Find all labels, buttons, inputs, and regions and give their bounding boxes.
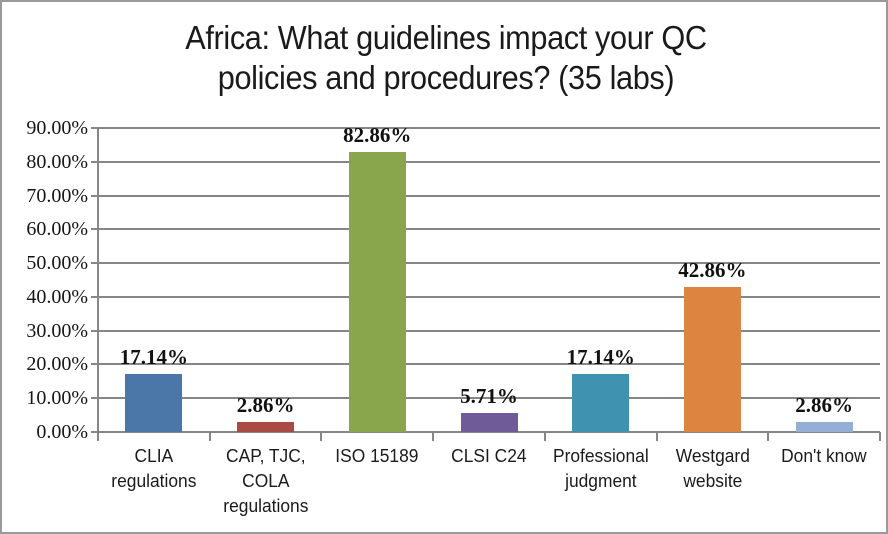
value-axis-tick-mark xyxy=(91,127,98,129)
bar-data-label: 5.71% xyxy=(419,386,559,407)
category-axis-tick-mark xyxy=(209,432,211,441)
bar[interactable] xyxy=(461,413,518,432)
value-axis-tick-mark xyxy=(91,161,98,163)
category-axis-label: Don't know xyxy=(772,443,877,468)
chart-title: Africa: What guidelines impact your QC p… xyxy=(33,18,859,98)
bar-data-label: 17.14% xyxy=(84,347,224,368)
value-axis-tick-label: 60.00% xyxy=(0,219,88,239)
value-axis-tick-mark xyxy=(91,330,98,332)
gridline xyxy=(98,296,880,298)
bar-data-label: 2.86% xyxy=(196,395,336,416)
category-axis-label: Westgard website xyxy=(660,443,765,493)
category-axis-tick-mark xyxy=(879,432,881,441)
gridline xyxy=(98,195,880,197)
value-axis-tick-label: 20.00% xyxy=(0,354,88,374)
category-axis-label: Professional judgment xyxy=(548,443,653,493)
bar-data-label: 42.86% xyxy=(642,260,782,281)
value-axis-tick-label: 70.00% xyxy=(0,186,88,206)
category-axis-tick-mark xyxy=(767,432,769,441)
value-axis-tick-label: 50.00% xyxy=(0,253,88,273)
category-axis-tick-mark xyxy=(320,432,322,441)
gridline xyxy=(98,228,880,230)
bar[interactable] xyxy=(796,422,853,432)
bar[interactable] xyxy=(349,152,406,432)
category-axis-tick-mark xyxy=(97,432,99,441)
category-axis-tick-mark xyxy=(656,432,658,441)
category-axis-label: CLSI C24 xyxy=(436,443,541,468)
value-axis-tick-mark xyxy=(91,296,98,298)
category-axis-tick-mark xyxy=(432,432,434,441)
bar-chart: Africa: What guidelines impact your QC p… xyxy=(0,0,888,534)
gridline xyxy=(98,127,880,129)
value-axis-tick-label: 30.00% xyxy=(0,321,88,341)
bar[interactable] xyxy=(572,374,629,432)
bar-data-label: 82.86% xyxy=(307,125,447,146)
bar[interactable] xyxy=(125,374,182,432)
category-axis-label: ISO 15189 xyxy=(325,443,430,468)
category-axis-tick-mark xyxy=(544,432,546,441)
bar-data-label: 2.86% xyxy=(754,395,888,416)
bar-data-label: 17.14% xyxy=(531,347,671,368)
gridline xyxy=(98,161,880,163)
category-axis-label: CLIA regulations xyxy=(101,443,206,493)
bar[interactable] xyxy=(237,422,294,432)
value-axis-tick-mark xyxy=(91,228,98,230)
value-axis-tick-label: 80.00% xyxy=(0,152,88,172)
value-axis-tick-label: 0.00% xyxy=(0,422,88,442)
bar[interactable] xyxy=(684,287,741,432)
value-axis-tick-label: 90.00% xyxy=(0,118,88,138)
value-axis-tick-mark xyxy=(91,262,98,264)
category-axis-label: CAP, TJC, COLA regulations xyxy=(213,443,318,518)
value-axis-tick-mark xyxy=(91,195,98,197)
gridline xyxy=(98,330,880,332)
value-axis-tick-label: 40.00% xyxy=(0,287,88,307)
value-axis-tick-label: 10.00% xyxy=(0,388,88,408)
value-axis-tick-mark xyxy=(91,397,98,399)
